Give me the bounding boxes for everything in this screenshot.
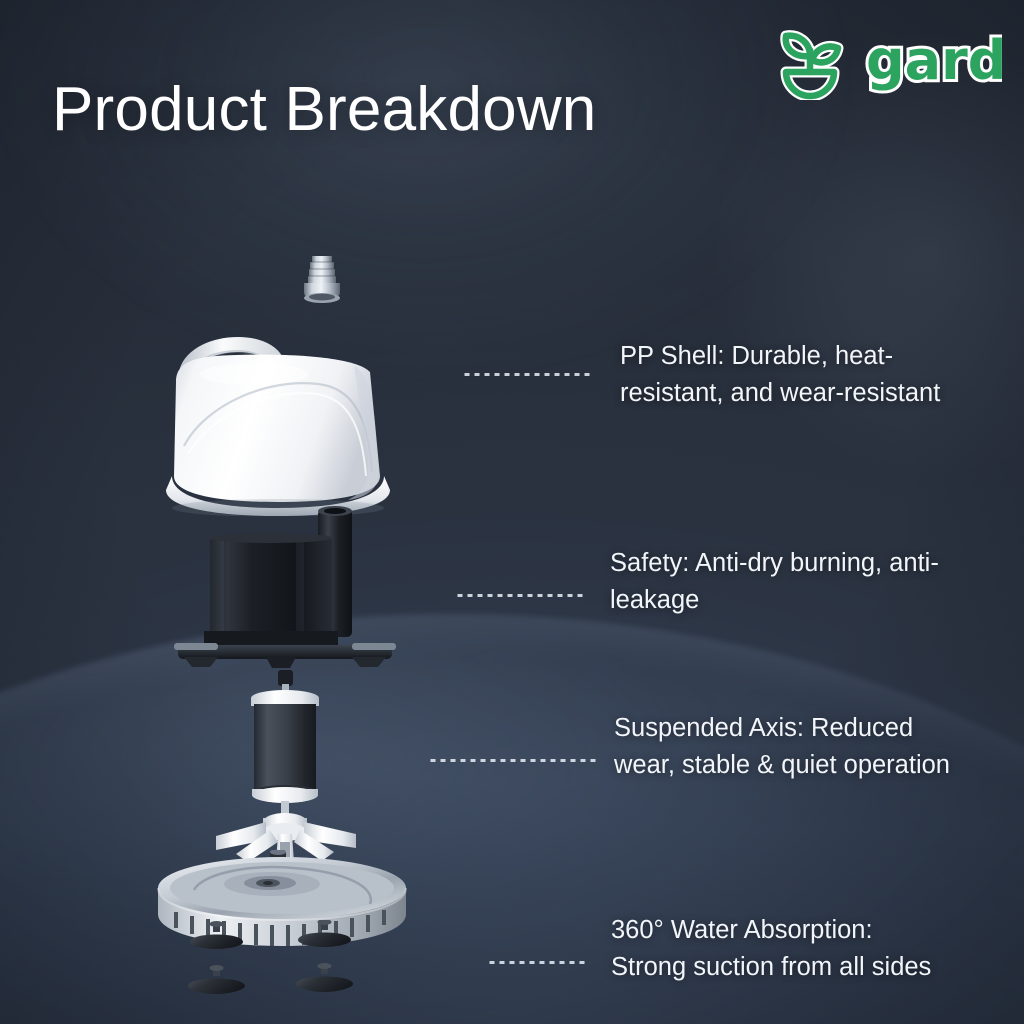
- infographic-canvas: Product Breakdown garden: [0, 0, 1024, 1024]
- suction-cups-part: [180, 920, 390, 1000]
- callout-safety: Safety: Anti-dry burning, anti- leakage: [455, 545, 1015, 619]
- product-exploded-view: [120, 230, 450, 1000]
- callout-text-pp-shell: PP Shell: Durable, heat- resistant, and …: [620, 338, 940, 412]
- callout-text-water-absorption: 360° Water Absorption: Strong suction fr…: [611, 912, 931, 986]
- callout-line-2: resistant, and wear-resistant: [620, 375, 940, 412]
- seedling-sprout-icon: [766, 22, 862, 100]
- leader-line-suspended-axis: [428, 759, 596, 762]
- leader-line-pp-shell: [462, 373, 590, 376]
- callout-line-1: PP Shell: Durable, heat-: [620, 338, 940, 375]
- callout-line-1: Safety: Anti-dry burning, anti-: [610, 545, 939, 582]
- callout-line-2: Strong suction from all sides: [611, 949, 931, 986]
- callout-line-2: wear, stable & quiet operation: [614, 747, 950, 784]
- callout-text-suspended-axis: Suspended Axis: Reduced wear, stable & q…: [614, 710, 950, 784]
- callout-suspended-axis: Suspended Axis: Reduced wear, stable & q…: [428, 710, 1013, 784]
- callout-text-safety: Safety: Anti-dry burning, anti- leakage: [610, 545, 939, 619]
- barbed-hose-adapter-part: [298, 252, 346, 308]
- brand-wordmark: garden: [864, 25, 1002, 97]
- motor-housing-part: [170, 505, 400, 670]
- brand-logo: garden: [766, 22, 1002, 100]
- callout-line-2: leakage: [610, 582, 939, 619]
- callout-pp-shell: PP Shell: Durable, heat- resistant, and …: [462, 338, 1007, 412]
- leader-line-safety: [455, 594, 585, 597]
- callout-line-1: 360° Water Absorption:: [611, 912, 931, 949]
- pp-shell-part: [158, 326, 408, 516]
- leader-line-water-absorption: [487, 961, 585, 964]
- suspended-axis-part: [208, 670, 363, 865]
- brand-wordmark-text: garden: [866, 29, 1002, 92]
- callout-line-1: Suspended Axis: Reduced: [614, 710, 950, 747]
- page-title: Product Breakdown: [52, 74, 596, 145]
- callout-water-absorption: 360° Water Absorption: Strong suction fr…: [487, 912, 1017, 986]
